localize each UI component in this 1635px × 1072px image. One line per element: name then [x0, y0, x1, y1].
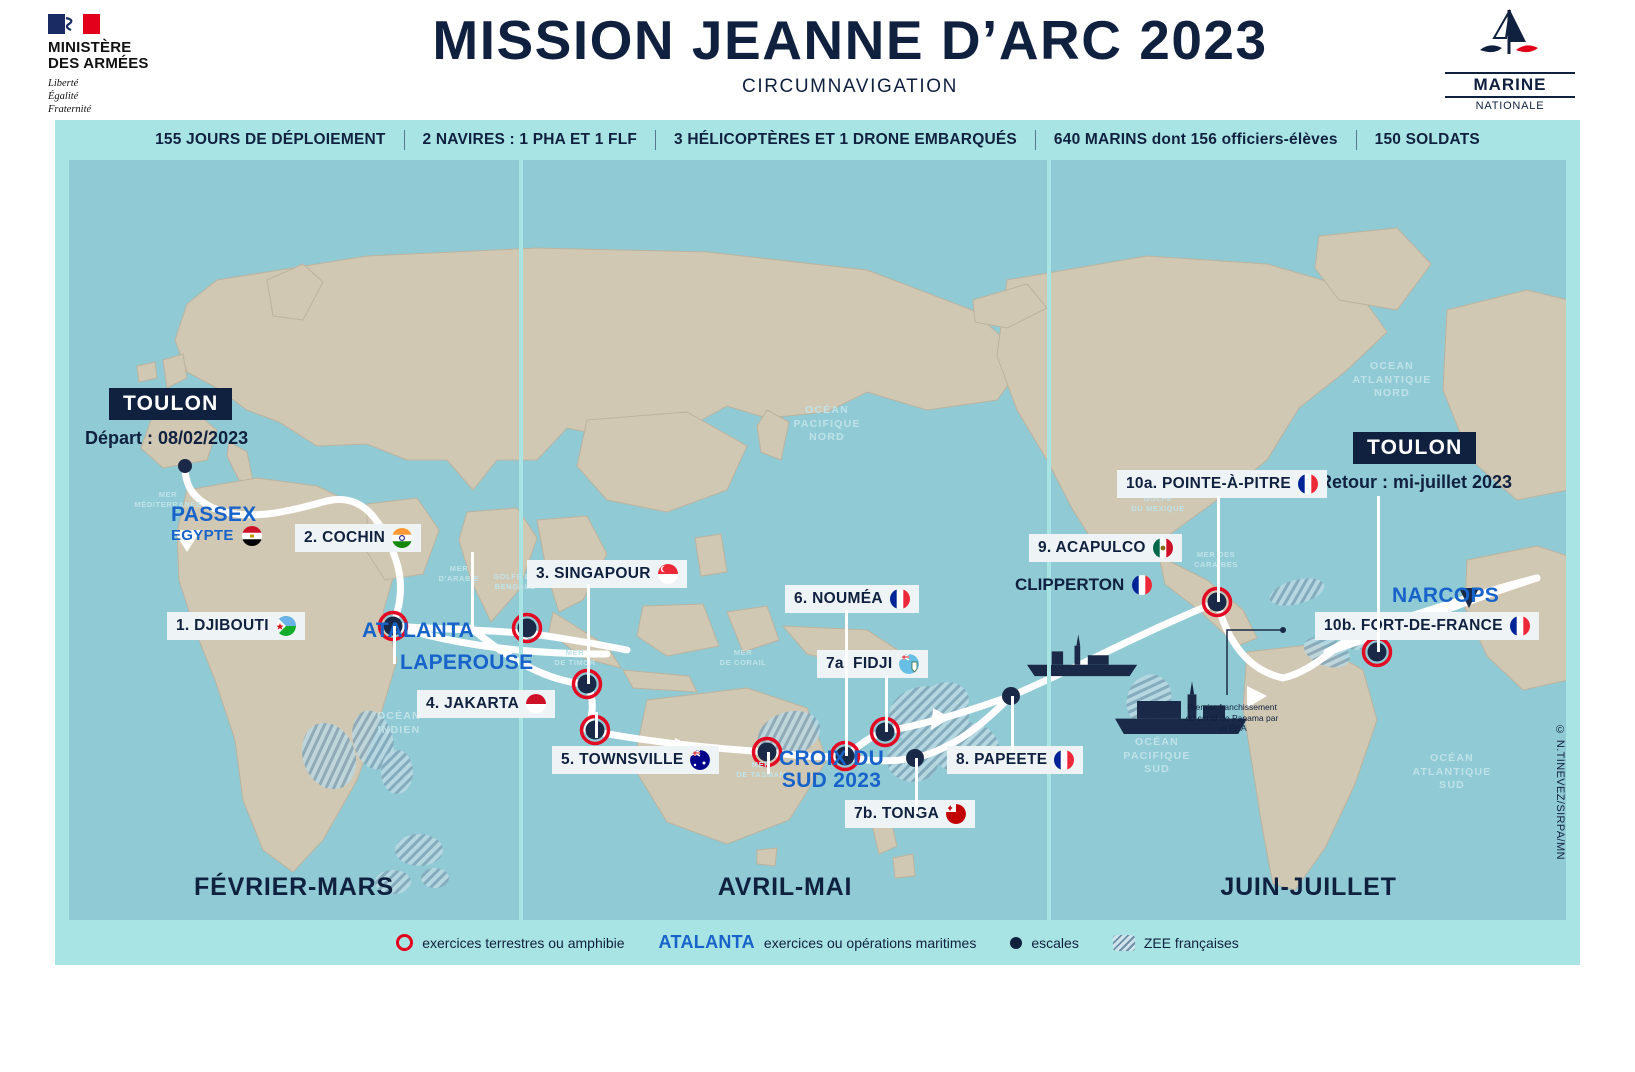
flag-djibouti-icon: [276, 616, 296, 636]
territory-label-clipperton: CLIPPERTON: [1015, 575, 1152, 595]
stop-badge-acapulco[interactable]: 9. ACAPULCO: [1029, 534, 1182, 562]
stop-label-singapour: 3. SINGAPOUR: [536, 565, 651, 583]
flag-australia-icon: [690, 750, 710, 770]
stop-label-papeete: 8. PAPEETE: [956, 751, 1047, 769]
connector-line: [587, 584, 590, 684]
stop-badge-fidji[interactable]: 7a. FIDJI: [817, 650, 928, 678]
motto-liberte: Liberté: [48, 77, 198, 90]
departure-city-badge: TOULON: [109, 388, 232, 420]
connector-line: [1011, 696, 1014, 752]
stop-label-acapulco: 9. ACAPULCO: [1038, 539, 1146, 557]
stat-item: 2 NAVIRES : 1 PHA ET 1 FLF: [405, 131, 655, 149]
flag-france-icon: [890, 589, 910, 609]
operation-passex-country: EGYPTE: [171, 528, 234, 544]
connector-line: [767, 752, 770, 774]
ocean-label-atlantique-sud: OCÉAN ATLANTIQUE SUD: [1392, 752, 1512, 793]
arrival-date: Retour : mi-juillet 2023: [1319, 472, 1512, 493]
page-subtitle: CIRCUMNAVIGATION: [300, 76, 1400, 98]
clipperton-label: CLIPPERTON: [1015, 575, 1124, 595]
stat-item: 150 SOLDATS: [1357, 131, 1498, 149]
legend-label-exercices-terrestres: exercices terrestres ou amphibie: [422, 935, 624, 951]
hatched-zone-icon: [1113, 935, 1135, 951]
connector-line: [845, 610, 848, 756]
motto-egalite: Égalité: [48, 90, 198, 103]
legend-label-zee: ZEE françaises: [1144, 935, 1239, 951]
flag-fiji-icon: [899, 654, 919, 674]
stop-label-jakarta: 4. JAKARTA: [426, 695, 519, 713]
flag-indonesia-icon: [526, 694, 546, 714]
stop-badge-townsville[interactable]: 5. TOWNSVILLE: [552, 746, 719, 774]
stats-bar: 155 JOURS DE DÉPLOIEMENT 2 NAVIRES : 1 P…: [55, 120, 1580, 160]
divider: [404, 130, 405, 150]
operation-laperouse: LAPEROUSE: [400, 652, 533, 674]
panama-annotation: Premier franchissement du canal de Panam…: [1157, 702, 1307, 734]
connector-line: [1377, 496, 1380, 652]
stop-label-pointe-a-pitre: 10a. POINTE-À-PITRE: [1126, 475, 1291, 493]
stop-badge-djibouti[interactable]: 1. DJIBOUTI: [167, 612, 305, 640]
operation-narcops: NARCOPS: [1392, 585, 1499, 607]
flag-france-icon: [1054, 750, 1074, 770]
photo-credit: © N.TINEVEZ/SIRPA/MN: [1554, 724, 1566, 860]
motto-fraternite: Fraternité: [48, 103, 198, 116]
flag-egypt-icon: [242, 526, 262, 546]
operation-passex-name: PASSEX: [171, 504, 262, 526]
period-label-3: JUIN-JUILLET: [1049, 873, 1568, 902]
legend-item-exercices-terrestres: exercices terrestres ou amphibie: [396, 934, 624, 951]
republic-motto: Liberté Égalité Fraternité: [48, 77, 198, 116]
world-map: FÉVRIER-MARS AVRIL-MAI JUIN-JUILLET OCÉA…: [67, 160, 1568, 920]
croix-du-sud-line1: CROIX DU: [779, 748, 884, 770]
ministry-name: MINISTÈRE DES ARMÉES: [48, 40, 198, 72]
sail-icon: [1464, 8, 1556, 70]
page-title: MISSION JEANNE D’ARC 2023: [300, 12, 1400, 70]
flag-france-icon: [1132, 575, 1152, 595]
flag-mexico-icon: [1153, 538, 1173, 558]
stop-badge-pointe-a-pitre[interactable]: 10a. POINTE-À-PITRE: [1117, 470, 1327, 498]
stop-badge-tonga[interactable]: 7b. TONGA: [845, 800, 975, 828]
period-label-1: FÉVRIER-MARS: [67, 873, 521, 902]
connector-line: [595, 712, 598, 738]
legend-item-zee: ZEE françaises: [1113, 935, 1239, 951]
panama-annotation-line1: Premier franchissement: [1157, 702, 1307, 713]
flag-india-icon: [392, 528, 412, 548]
flag-france-icon: [1510, 616, 1530, 636]
legend-label-operations-maritimes: exercices ou opérations maritimes: [764, 935, 976, 951]
french-flag-logo-icon: [48, 14, 100, 34]
legend-label-escales: escales: [1031, 935, 1078, 951]
stat-item: 3 HÉLICOPTÈRES ET 1 DRONE EMBARQUÉS: [656, 131, 1035, 149]
ministry-line1: MINISTÈRE: [48, 40, 198, 56]
sea-label-caraibes: MER DES CARAÏBES: [1171, 550, 1261, 570]
stop-badge-noumea[interactable]: 6. NOUMÉA: [785, 585, 919, 613]
stop-label-noumea: 6. NOUMÉA: [794, 590, 883, 608]
marine-nationale-logo: MARINE NATIONALE: [1445, 8, 1575, 112]
ministry-line2: DES ARMÉES: [48, 56, 198, 72]
connector-line: [885, 676, 888, 732]
red-ring-icon: [396, 934, 413, 951]
sea-label-corail: MER DE CORAIL: [703, 648, 783, 668]
stop-badge-singapour[interactable]: 3. SINGAPOUR: [527, 560, 687, 588]
page-header: MINISTÈRE DES ARMÉES Liberté Égalité Fra…: [0, 0, 1635, 120]
connector-line: [915, 758, 918, 814]
connector-line: [1217, 496, 1220, 602]
stat-item: 640 MARINS dont 156 officiers-élèves: [1036, 131, 1356, 149]
stop-badge-papeete[interactable]: 8. PAPEETE: [947, 746, 1083, 774]
flag-tonga-icon: [946, 804, 966, 824]
stop-label-fidji: 7a. FIDJI: [826, 655, 892, 673]
marine-line2: NATIONALE: [1445, 100, 1575, 112]
stop-label-fort-de-france: 10b. FORT-DE-FRANCE: [1324, 617, 1503, 635]
croix-du-sud-line2: SUD 2023: [779, 770, 884, 792]
ocean-label-pacifique-sud: OCÉAN PACIFIQUE SUD: [1097, 736, 1217, 777]
ministry-logo: MINISTÈRE DES ARMÉES Liberté Égalité Fra…: [48, 14, 198, 116]
divider: [1356, 130, 1357, 150]
ocean-label-atlantique-nord: OCEAN ATLANTIQUE NORD: [1332, 360, 1452, 401]
legend-item-operations-maritimes: ATALANTA exercices ou opérations maritim…: [659, 932, 977, 953]
connector-line: [471, 552, 474, 630]
stop-badge-jakarta[interactable]: 4. JAKARTA: [417, 690, 555, 718]
operation-atalanta: ATALANTA: [362, 620, 474, 642]
panama-annotation-line3: un PHA: [1157, 723, 1307, 734]
arrival-city-badge: TOULON: [1353, 432, 1476, 464]
marine-line1: MARINE: [1445, 72, 1575, 98]
map-legend: exercices terrestres ou amphibie ATALANT…: [55, 920, 1580, 965]
stop-label-tonga: 7b. TONGA: [854, 805, 939, 823]
sea-label-timor: MER DE TIMOR: [535, 648, 615, 668]
divider: [1035, 130, 1036, 150]
stop-badge-fort-de-france[interactable]: 10b. FORT-DE-FRANCE: [1315, 612, 1539, 640]
panama-annotation-line2: du canal de Panama par: [1157, 713, 1307, 724]
navy-dot-icon: [1010, 937, 1022, 949]
flag-france-icon: [1298, 474, 1318, 494]
operation-passex: PASSEX EGYPTE: [171, 504, 262, 546]
departure-date: Départ : 08/02/2023: [85, 428, 248, 449]
ocean-label-pacifique-nord: OCÉAN PACIFIQUE NORD: [767, 404, 887, 445]
legend-keyword-atalanta: ATALANTA: [659, 932, 755, 953]
connector-line: [393, 626, 396, 664]
stop-label-djibouti: 1. DJIBOUTI: [176, 617, 269, 635]
stat-item: 155 JOURS DE DÉPLOIEMENT: [137, 131, 403, 149]
stop-label-cochin: 2. COCHIN: [304, 529, 385, 547]
stop-label-townsville: 5. TOWNSVILLE: [561, 751, 683, 769]
flag-singapore-icon: [658, 564, 678, 584]
operation-croix-du-sud: CROIX DU SUD 2023: [779, 748, 884, 792]
period-band-fevrier-mars: [67, 160, 521, 920]
title-block: MISSION JEANNE D’ARC 2023 CIRCUMNAVIGATI…: [300, 12, 1400, 98]
divider: [655, 130, 656, 150]
stop-badge-cochin[interactable]: 2. COCHIN: [295, 524, 421, 552]
infographic-panel: 155 JOURS DE DÉPLOIEMENT 2 NAVIRES : 1 P…: [55, 120, 1580, 965]
legend-item-escales: escales: [1010, 935, 1078, 951]
period-label-2: AVRIL-MAI: [521, 873, 1049, 902]
